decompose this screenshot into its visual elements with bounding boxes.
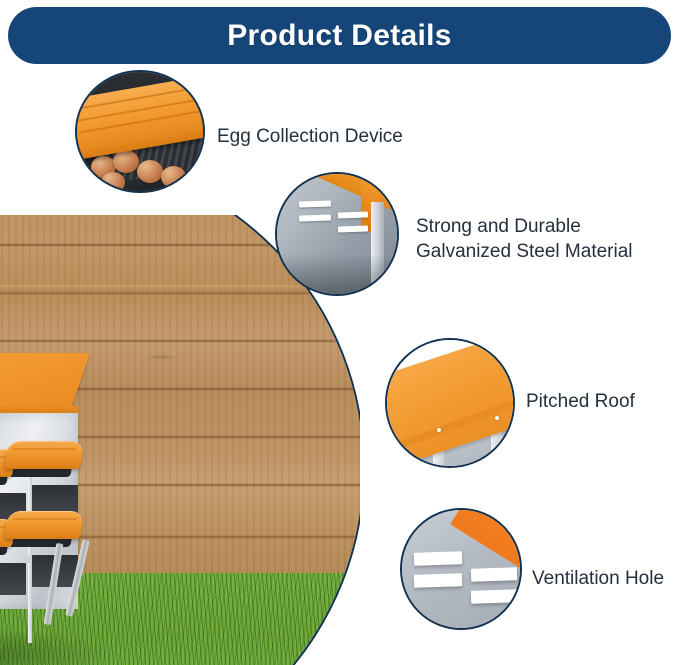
ventilation-slot (414, 551, 462, 566)
roof-screw (437, 428, 441, 432)
lid-rib (79, 109, 205, 133)
egg-collection-tray (4, 511, 84, 539)
egg-collection-tray (4, 441, 84, 469)
roof-screw (495, 416, 499, 420)
ventilation-slot (471, 567, 517, 582)
bay-interior (0, 563, 26, 595)
callout-pitched-roof (385, 338, 515, 468)
callout-3-label: Pitched Roof (526, 389, 635, 414)
callout-galvanized-steel (275, 172, 399, 296)
nesting-box-product (0, 353, 112, 653)
vent-slot (299, 200, 331, 207)
callout-ventilation-hole (400, 508, 522, 630)
ventilation-slot (414, 573, 462, 588)
egg (101, 172, 125, 193)
page-title: Product Details (227, 19, 452, 53)
vent-slot (338, 225, 368, 232)
panel-shading (277, 254, 397, 294)
product-roof (0, 353, 90, 411)
callout-4-label: Ventilation Hole (532, 566, 664, 591)
egg (113, 150, 139, 173)
egg (161, 166, 186, 188)
callout-egg-collection-device (75, 70, 205, 193)
product-details-infographic: Product Details (0, 0, 679, 665)
ventilation-slot (471, 589, 517, 604)
callout-2-label: Strong and Durable Galvanized Steel Mate… (416, 214, 633, 264)
egg (137, 160, 163, 183)
header-banner: Product Details (8, 7, 671, 64)
lid-rib (79, 98, 205, 122)
vent-slot (338, 211, 368, 218)
vent-slot (299, 214, 331, 221)
callout-1-label: Egg Collection Device (217, 124, 403, 149)
egg (183, 172, 205, 193)
bay-divider (28, 563, 32, 643)
